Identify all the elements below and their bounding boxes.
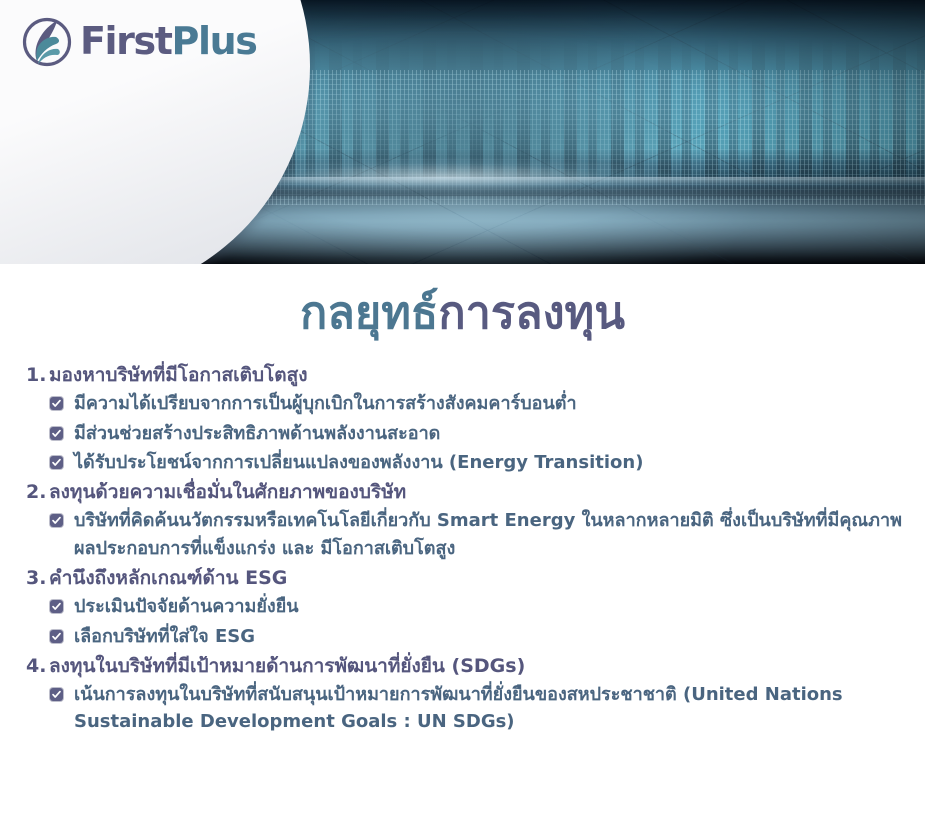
page-title-part-a: กลยุทธ์ bbox=[300, 286, 438, 339]
list-item-label: เลือกบริษัทที่ใส่ใจ ESG bbox=[74, 623, 255, 650]
check-square-icon bbox=[50, 397, 63, 410]
check-square-icon bbox=[50, 688, 63, 701]
strategy-list: 1. มองหาบริษัทที่มีโอกาสเติบโตสูง มีความ… bbox=[0, 361, 925, 737]
strategy-group-number: 4. bbox=[26, 652, 49, 680]
strategy-group-number: 3. bbox=[26, 564, 49, 592]
strategy-group-heading: 4. ลงทุนในบริษัทที่มีเป้าหมายด้านการพัฒน… bbox=[26, 652, 913, 680]
strategy-sub-list: ประเมินปัจจัยด้านความยั่งยืน เลือกบริษัท… bbox=[26, 592, 913, 651]
strategy-group-heading: 3. คำนึงถึงหลักเกณฑ์ด้าน ESG bbox=[26, 564, 913, 592]
brand-logo[interactable]: FirstPlus bbox=[20, 14, 256, 68]
check-square-icon bbox=[50, 630, 63, 643]
list-item: บริษัทที่คิดค้นนวัตกรรมหรือเทคโนโลยีเกี่… bbox=[26, 506, 913, 563]
strategy-group-label: คำนึงถึงหลักเกณฑ์ด้าน ESG bbox=[49, 564, 287, 592]
strategy-group-heading: 1. มองหาบริษัทที่มีโอกาสเติบโตสูง bbox=[26, 361, 913, 389]
strategy-group-number: 1. bbox=[26, 361, 49, 389]
strategy-group: 2. ลงทุนด้วยความเชื่อมั่นในศักยภาพของบริ… bbox=[26, 478, 913, 563]
strategy-group: 3. คำนึงถึงหลักเกณฑ์ด้าน ESG ประเมินปัจจ… bbox=[26, 564, 913, 651]
strategy-group: 4. ลงทุนในบริษัทที่มีเป้าหมายด้านการพัฒน… bbox=[26, 652, 913, 737]
strategy-group-label: ลงทุนด้วยความเชื่อมั่นในศักยภาพของบริษัท bbox=[49, 478, 406, 506]
check-square-icon bbox=[50, 427, 63, 440]
strategy-sub-list: มีความได้เปรียบจากการเป็นผู้บุกเบิกในการ… bbox=[26, 389, 913, 477]
list-item-label: ได้รับประโยชน์จากการเปลี่ยนแปลงของพลังงา… bbox=[74, 449, 643, 476]
list-item: เลือกบริษัทที่ใส่ใจ ESG bbox=[26, 622, 913, 651]
list-item-label: มีความได้เปรียบจากการเป็นผู้บุกเบิกในการ… bbox=[74, 390, 577, 417]
page-title-part-b: การลงทุน bbox=[438, 286, 625, 339]
strategy-sub-list: เน้นการลงทุนในบริษัทที่สนับสนุนเป้าหมายก… bbox=[26, 680, 913, 737]
brand-logo-first: First bbox=[80, 19, 172, 63]
list-item-label: บริษัทที่คิดค้นนวัตกรรมหรือเทคโนโลยีเกี่… bbox=[74, 507, 913, 562]
list-item: เน้นการลงทุนในบริษัทที่สนับสนุนเป้าหมายก… bbox=[26, 680, 913, 737]
strategy-group-label: ลงทุนในบริษัทที่มีเป้าหมายด้านการพัฒนาที… bbox=[49, 652, 525, 680]
strategy-group-heading: 2. ลงทุนด้วยความเชื่อมั่นในศักยภาพของบริ… bbox=[26, 478, 913, 506]
slide-content: กลยุทธ์การลงทุน 1. มองหาบริษัทที่มีโอกาส… bbox=[0, 286, 925, 737]
strategy-group: 1. มองหาบริษัทที่มีโอกาสเติบโตสูง มีความ… bbox=[26, 361, 913, 477]
check-square-icon bbox=[50, 600, 63, 613]
brand-logo-plus: Plus bbox=[172, 19, 257, 63]
list-item: ได้รับประโยชน์จากการเปลี่ยนแปลงของพลังงา… bbox=[26, 448, 913, 477]
list-item-label: เน้นการลงทุนในบริษัทที่สนับสนุนเป้าหมายก… bbox=[74, 681, 913, 736]
leaf-in-circle-icon bbox=[20, 14, 74, 68]
check-square-icon bbox=[50, 456, 63, 469]
brand-logo-text: FirstPlus bbox=[80, 22, 256, 60]
list-item-label: ประเมินปัจจัยด้านความยั่งยืน bbox=[74, 593, 299, 620]
strategy-group-number: 2. bbox=[26, 478, 49, 506]
page-title: กลยุทธ์การลงทุน bbox=[0, 286, 925, 339]
list-item: มีความได้เปรียบจากการเป็นผู้บุกเบิกในการ… bbox=[26, 389, 913, 418]
check-square-icon bbox=[50, 514, 63, 527]
strategy-sub-list: บริษัทที่คิดค้นนวัตกรรมหรือเทคโนโลยีเกี่… bbox=[26, 506, 913, 563]
hero-banner: FirstPlus bbox=[0, 0, 925, 264]
strategy-group-label: มองหาบริษัทที่มีโอกาสเติบโตสูง bbox=[49, 361, 307, 389]
list-item: ประเมินปัจจัยด้านความยั่งยืน bbox=[26, 592, 913, 621]
list-item-label: มีส่วนช่วยสร้างประสิทธิภาพด้านพลังงานสะอ… bbox=[74, 420, 440, 447]
list-item: มีส่วนช่วยสร้างประสิทธิภาพด้านพลังงานสะอ… bbox=[26, 419, 913, 448]
